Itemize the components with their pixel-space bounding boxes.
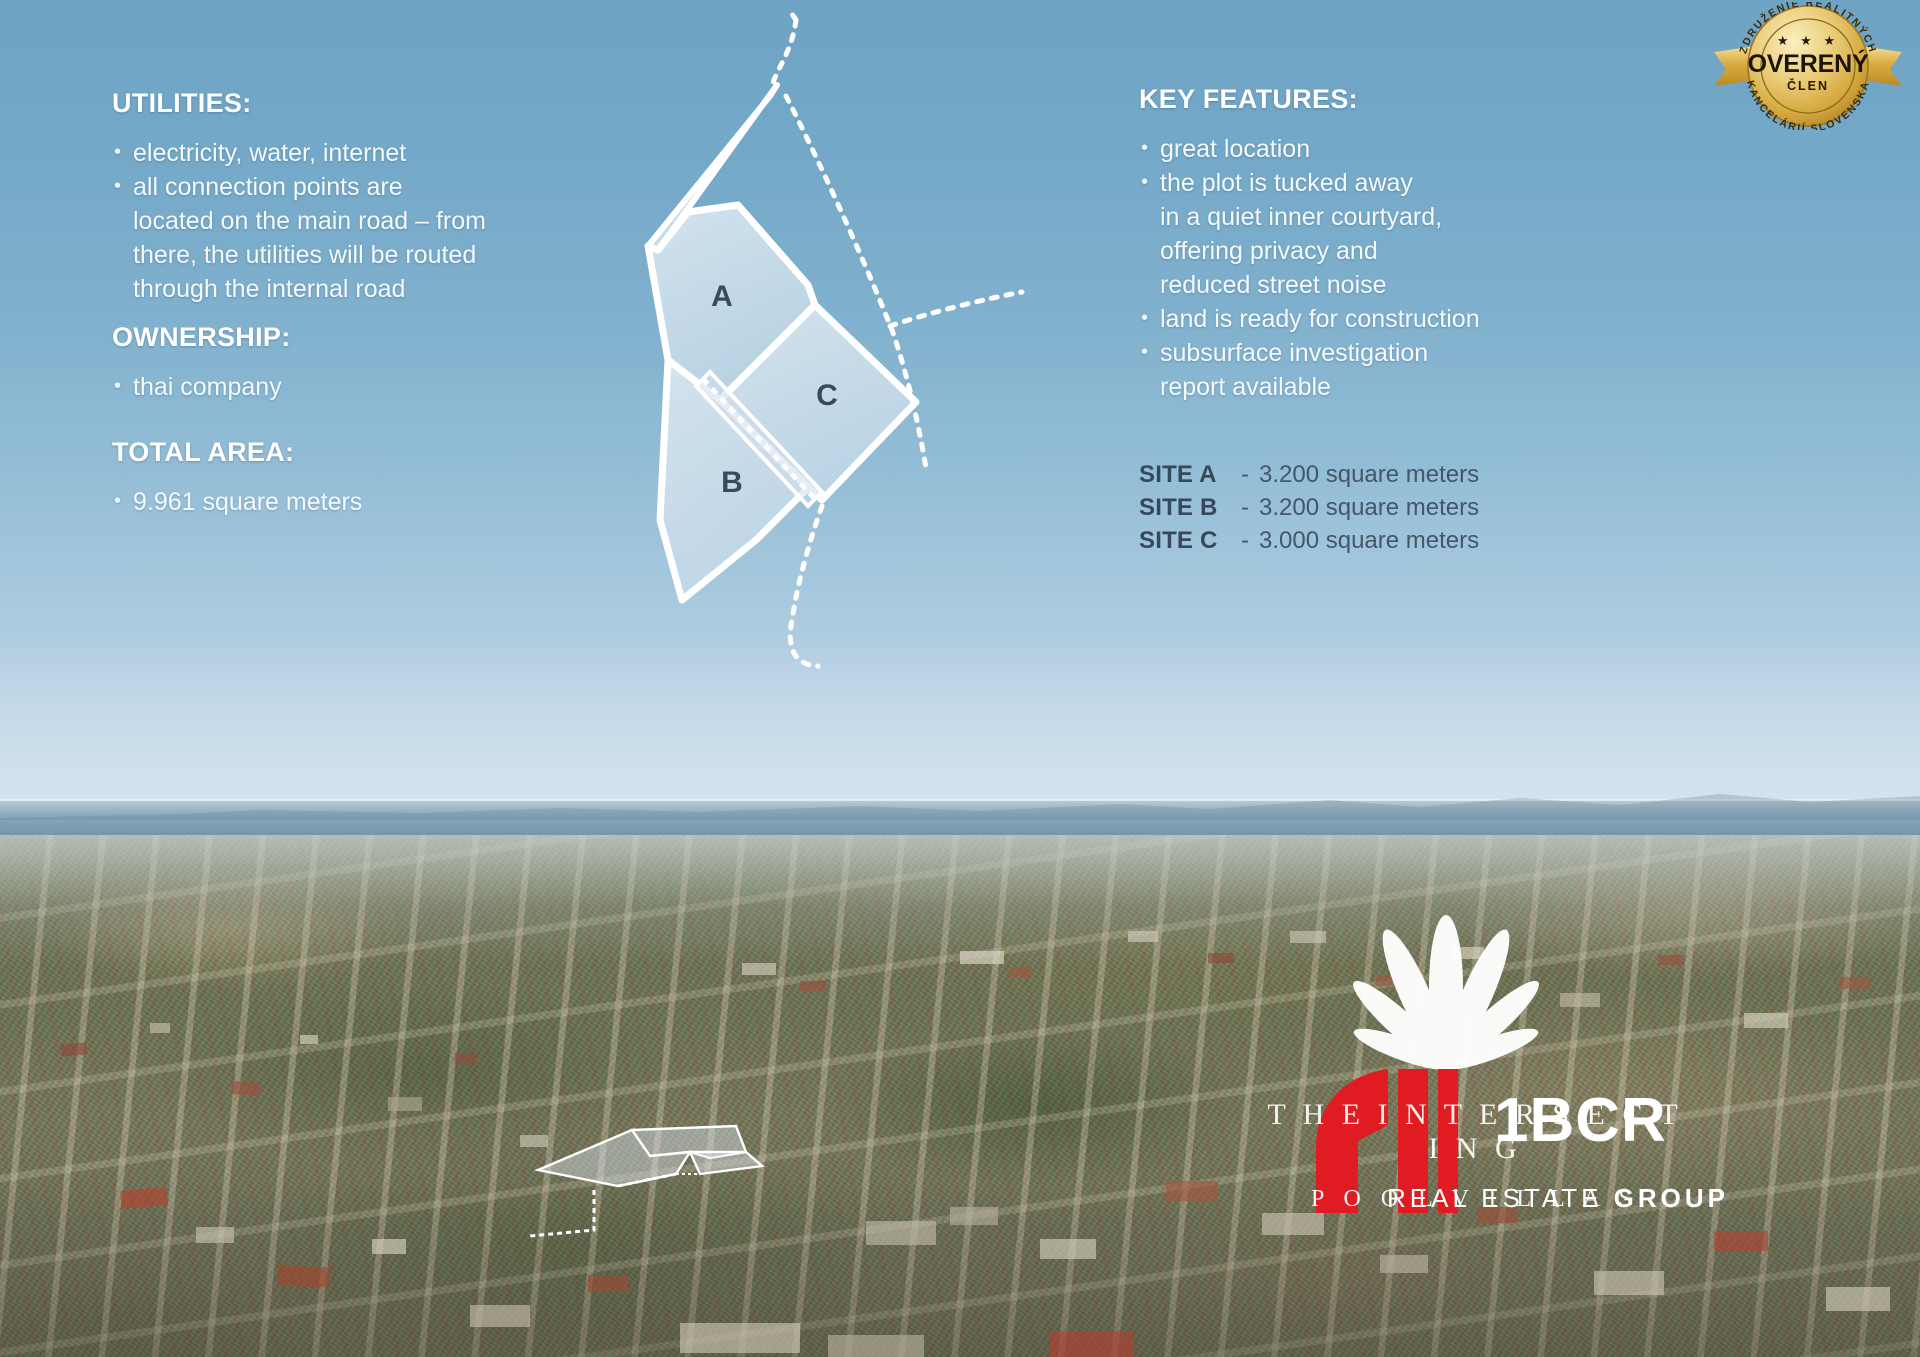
list-item: all connection points are <box>112 170 592 204</box>
total-area-heading: TOTAL AREA: <box>112 437 552 468</box>
site-name: SITE C <box>1139 524 1231 557</box>
presentation-canvas: A B C UTILITIES: electricity, water, int… <box>0 0 1920 1357</box>
key-features-list: great location the plot is tucked away i… <box>1139 132 1639 404</box>
list-item: reduced street noise <box>1139 268 1639 302</box>
aerial-plot-overlay <box>500 1090 800 1290</box>
list-item: 9.961 square meters <box>112 485 552 519</box>
list-item: there, the utilities will be routed <box>112 238 592 272</box>
road-route-north <box>772 8 796 86</box>
road-route-branch <box>890 292 1022 326</box>
list-item: electricity, water, internet <box>112 136 592 170</box>
site-value: 3.000 square meters <box>1259 524 1479 557</box>
site-row: SITE A - 3.200 square meters <box>1139 458 1479 491</box>
plot-b-label: B <box>721 466 743 499</box>
verified-member-seal: ZDRUŽENIE REALITNÝCH KANCELÁRIÍ SLOVENSK… <box>1710 2 1906 130</box>
plot-a-label: A <box>711 280 733 313</box>
total-area-panel: TOTAL AREA: 9.961 square meters <box>112 437 552 519</box>
list-item: in a quiet inner courtyard, <box>1139 200 1639 234</box>
logo-tagline: REAL ESTATE GROUP <box>1288 1183 1828 1214</box>
site-value: 3.200 square meters <box>1259 491 1479 524</box>
site-name: SITE B <box>1139 491 1231 524</box>
ownership-panel: OWNERSHIP: thai company <box>112 322 532 404</box>
logo-block: T H E I N T E R S E C T I N G P O O L V … <box>1240 915 1920 1357</box>
site-dash: - <box>1231 458 1259 491</box>
site-areas-list: SITE A - 3.200 square meters SITE B - 3.… <box>1139 458 1479 557</box>
tagline-bold: GROUP <box>1614 1183 1729 1213</box>
distant-hills <box>0 780 1920 820</box>
road-route-south <box>790 506 822 666</box>
site-row: SITE C - 3.000 square meters <box>1139 524 1479 557</box>
list-item: located on the main road – from <box>112 204 592 238</box>
tagline-plain: REAL ESTATE <box>1387 1183 1602 1213</box>
key-features-heading: KEY FEATURES: <box>1139 84 1639 115</box>
site-dash: - <box>1231 491 1259 524</box>
list-item: great location <box>1139 132 1639 166</box>
utilities-panel: UTILITIES: electricity, water, internet … <box>112 88 592 306</box>
site-name: SITE A <box>1139 458 1231 491</box>
seal-stars: ★ ★ ★ <box>1777 33 1839 48</box>
ownership-heading: OWNERSHIP: <box>112 322 532 353</box>
total-area-list: 9.961 square meters <box>112 485 552 519</box>
seal-center-text: OVERENÝ <box>1748 48 1869 78</box>
list-item: the plot is tucked away <box>1139 166 1639 200</box>
utilities-list: electricity, water, internet all connect… <box>112 136 592 306</box>
key-features-panel: KEY FEATURES: great location the plot is… <box>1139 84 1639 404</box>
parcel-diagram: A B C <box>560 0 1080 690</box>
seal-sub-text: ČLEN <box>1787 78 1829 93</box>
list-item: through the internal road <box>112 272 592 306</box>
brand-wordmark: 1BCR <box>1494 1085 1667 1156</box>
list-item: report available <box>1139 370 1639 404</box>
list-item: subsurface investigation <box>1139 336 1639 370</box>
site-row: SITE B - 3.200 square meters <box>1139 491 1479 524</box>
plot-c-label: C <box>816 379 838 412</box>
utilities-heading: UTILITIES: <box>112 88 592 119</box>
list-item: thai company <box>112 370 532 404</box>
site-dash: - <box>1231 524 1259 557</box>
site-value: 3.200 square meters <box>1259 458 1479 491</box>
ownership-list: thai company <box>112 370 532 404</box>
seal-svg: ZDRUŽENIE REALITNÝCH KANCELÁRIÍ SLOVENSK… <box>1710 2 1906 130</box>
list-item: land is ready for construction <box>1139 302 1639 336</box>
parcel-diagram-svg: A B C <box>560 0 1080 690</box>
list-item: offering privacy and <box>1139 234 1639 268</box>
